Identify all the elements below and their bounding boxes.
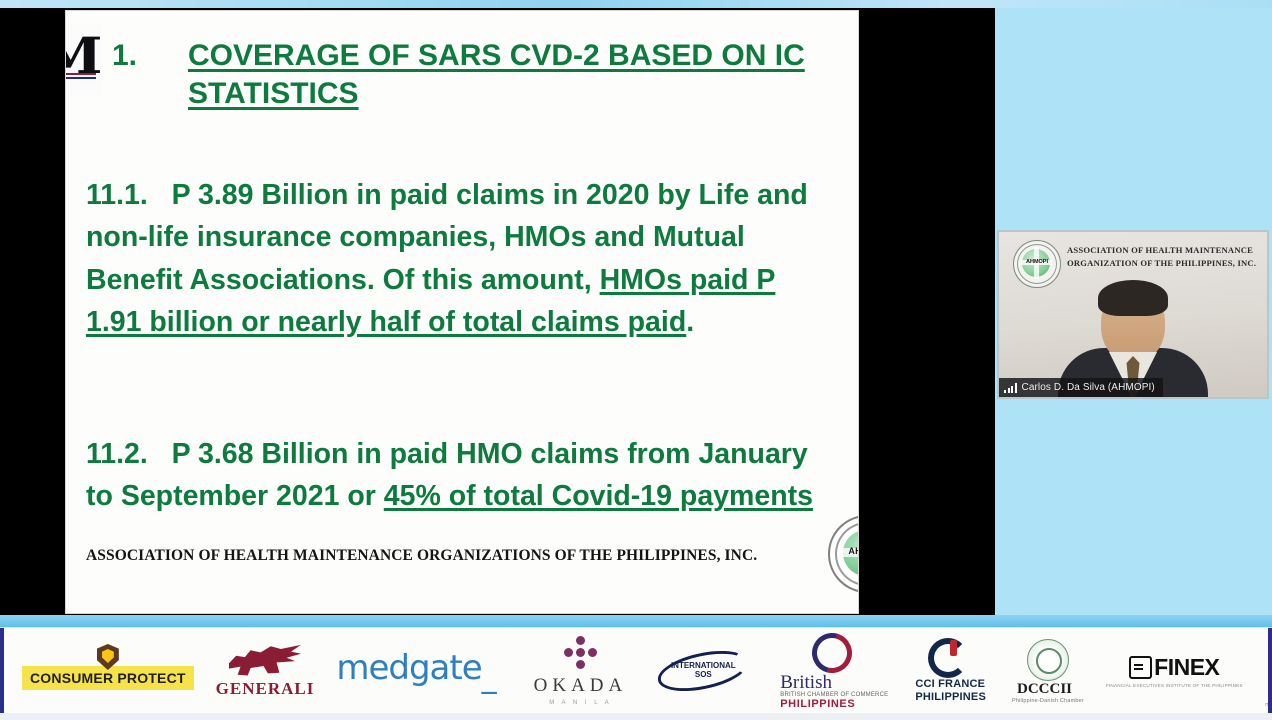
slide-footer-org-name: ASSOCIATION OF HEALTH MAINTENANCE ORGANI…: [86, 547, 757, 565]
consumer-protect-wordmark: CONSUMER PROTECT: [22, 666, 194, 690]
slide-paragraph-11-2: 11.2. P 3.68 Billion in paid HMO claims …: [86, 433, 836, 518]
paragraph-tail: .: [686, 306, 694, 338]
okada-sublabel: M A N I L A: [549, 700, 611, 706]
sponsor-logo-iccpi[interactable]: ICCPI ITALIAN CHAMBER OF COMMERCE IN THE…: [1265, 628, 1272, 714]
sponsor-logo-finex[interactable]: FINEX FINANCIAL EXECUTIVES INSTITUTE OF …: [1106, 628, 1243, 714]
video-backdrop-ahmopi-logo-icon: AHMOPI: [1013, 240, 1061, 288]
video-backdrop-org-line2: ORGANIZATION OF THE PHILIPPINES, INC.: [1067, 257, 1261, 270]
slide-title: 1. COVERAGE OF SARS CVD-2 BASED ON IC ST…: [112, 37, 838, 114]
paragraph-number: 11.2.: [86, 438, 148, 470]
british-label: British: [780, 673, 832, 692]
cci-sublabel: PHILIPPINES: [915, 691, 986, 704]
dcccii-label: DCCCII: [1017, 681, 1072, 698]
sponsor-logo-cci-france-philippines[interactable]: CCI FRANCE PHILIPPINES: [910, 628, 986, 714]
backdrop-seal-label: AHMOPI: [1014, 259, 1060, 265]
screen-share-right-gutter: [980, 8, 995, 615]
sponsor-logo-medgate[interactable]: medgate_: [336, 628, 495, 714]
finex-wordmark: FINEX: [1129, 654, 1219, 681]
cci-wordmark: CCI FRANCE PHILIPPINES: [915, 678, 986, 703]
participant-hair: [1098, 280, 1168, 316]
seal-label: AHMOPI: [830, 546, 858, 556]
dcccii-sublabel: Philippine-Danish Chamber: [1012, 698, 1084, 704]
participant-video-tile[interactable]: AHMOPI ASSOCIATION OF HEALTH MAINTENANCE…: [997, 230, 1269, 399]
medgate-label: medgate: [336, 648, 481, 688]
okada-label: OKADA: [534, 675, 628, 697]
top-blue-strip: [0, 0, 1272, 8]
dcccii-wordmark: DCCCII Philippine-Danish Chamber: [1012, 681, 1084, 704]
sponsor-logo-dcccii[interactable]: DCCCII Philippine-Danish Chamber: [1012, 628, 1084, 714]
medgate-wordmark: medgate_: [336, 648, 495, 695]
sponsor-logo-generali[interactable]: GENERALI: [216, 628, 315, 714]
video-backdrop-org-line1: ASSOCIATION OF HEALTH MAINTENANCE: [1067, 244, 1261, 257]
winged-lion-icon: [229, 644, 301, 678]
webinar-screen: M 1. COVERAGE OF SARS CVD-2 BASED ON IC …: [0, 0, 1272, 720]
window-bottom-edge: [0, 713, 1272, 720]
cci-label: CCI FRANCE: [915, 678, 985, 691]
british-country-label: PHILIPPINES: [780, 698, 855, 710]
sponsor-logo-international-sos[interactable]: INTERNATIONAL SOS: [657, 628, 749, 714]
ahmopi-seal-icon: AHMOPI: [828, 515, 858, 593]
shield-icon: [97, 644, 119, 670]
generali-label: GENERALI: [216, 679, 315, 699]
manila-bulletin-watermark-icon: M: [66, 25, 102, 95]
slide-title-text: COVERAGE OF SARS CVD-2 BASED ON IC STATI…: [188, 37, 808, 114]
watermark-rule-blue: [66, 77, 96, 79]
slide-footer: ASSOCIATION OF HEALTH MAINTENANCE ORGANI…: [66, 543, 858, 577]
sponsor-bar-blue-divider: [0, 615, 1272, 627]
paragraph-underlined: 45% of total Covid-19 payments: [384, 480, 813, 512]
consumer-protect-label: CONSUMER PROTECT: [30, 670, 186, 686]
finex-square-icon: [1129, 656, 1152, 679]
sponsor-logo-bar: CONSUMER PROTECT GENERALI medgate_ OKADA…: [0, 627, 1272, 716]
finex-label: FINEX: [1154, 654, 1219, 681]
sos-label-sub: SOS: [695, 670, 712, 679]
finex-sublabel: FINANCIAL EXECUTIVES INSTITUTE OF THE PH…: [1106, 683, 1243, 688]
watermark-rule-red: [66, 73, 96, 75]
sos-swoosh-icon: INTERNATIONAL SOS: [655, 644, 752, 698]
sos-label: INTERNATIONAL SOS: [671, 662, 736, 680]
paragraph-number: 11.1.: [86, 179, 148, 211]
sponsor-logo-consumer-protect[interactable]: CONSUMER PROTECT: [22, 628, 194, 714]
slide-title-number: 1.: [112, 37, 188, 75]
okada-flower-icon: [564, 636, 597, 669]
british-chamber-wordmark: British BRITISH CHAMBER OF COMMERCE PHIL…: [780, 673, 888, 710]
signal-bars-icon: [1004, 383, 1017, 393]
dcccii-seal-icon: [1027, 639, 1069, 681]
sponsor-logo-okada-manila[interactable]: OKADA M A N I L A: [534, 628, 628, 714]
cci-c-icon: [928, 638, 968, 678]
participant-name-bar: Carlos D. Da Silva (AHMOPI): [999, 378, 1163, 397]
slide-paragraph-11-1: 11.1. P 3.89 Billion in paid claims in 2…: [86, 174, 836, 344]
sponsor-logo-british-chamber[interactable]: British BRITISH CHAMBER OF COMMERCE PHIL…: [775, 628, 888, 714]
video-backdrop-org-text: ASSOCIATION OF HEALTH MAINTENANCE ORGANI…: [1067, 244, 1261, 270]
iccpi-sublabel: ITALIAN CHAMBER OF COMMERCE IN THE PHILI…: [1265, 702, 1272, 708]
participant-name-label: Carlos D. Da Silva (AHMOPI): [1022, 382, 1155, 393]
presentation-slide[interactable]: M 1. COVERAGE OF SARS CVD-2 BASED ON IC …: [66, 11, 858, 613]
